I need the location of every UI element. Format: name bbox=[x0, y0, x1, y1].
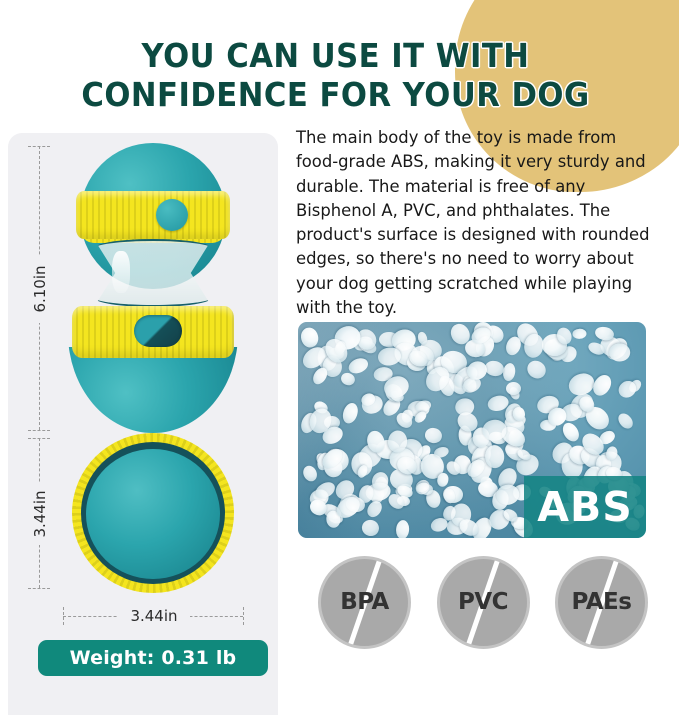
page-title: YOU CAN USE IT WITH CONFIDENCE FOR YOUR … bbox=[23, 36, 647, 114]
no-paes-icon: PAEs bbox=[555, 556, 648, 649]
dim-diameter-label: 3.44in bbox=[31, 482, 49, 546]
free-of-badge-group: BPA PVC PAEs bbox=[318, 554, 648, 650]
abs-material-photo: ABS bbox=[298, 322, 646, 538]
page-title-line2: CONFIDENCE FOR YOUR DOG bbox=[23, 75, 647, 114]
weight-badge-label: Weight: 0.31 lb bbox=[70, 647, 237, 669]
product-image-bottom bbox=[72, 433, 234, 593]
dim-height-label: 6.10in bbox=[31, 257, 49, 321]
toy-bottom-dome bbox=[86, 449, 220, 579]
dim-width-tick-right bbox=[243, 607, 244, 625]
dim-diameter-cap-bottom bbox=[28, 588, 50, 589]
no-bpa-label: BPA bbox=[340, 589, 389, 615]
weight-badge: Weight: 0.31 lb bbox=[38, 640, 268, 676]
no-paes-label: PAEs bbox=[572, 589, 632, 615]
product-image-side bbox=[62, 143, 242, 433]
no-pvc-icon: PVC bbox=[437, 556, 530, 649]
page-title-line1: YOU CAN USE IT WITH bbox=[142, 36, 530, 75]
toy-waist-highlight bbox=[112, 251, 130, 293]
abs-caption-text: ABS bbox=[537, 487, 633, 528]
no-bpa-icon: BPA bbox=[318, 556, 411, 649]
toy-top-button bbox=[156, 199, 188, 231]
dim-width-label: 3.44in bbox=[118, 607, 190, 625]
toy-dispense-slot bbox=[134, 315, 182, 347]
body-paragraph: The main body of the toy is made from fo… bbox=[296, 126, 656, 320]
no-pvc-label: PVC bbox=[458, 589, 508, 615]
dim-height-cap-bottom bbox=[28, 430, 50, 431]
abs-caption-block: ABS bbox=[524, 476, 646, 538]
infographic-page: YOU CAN USE IT WITH CONFIDENCE FOR YOUR … bbox=[0, 0, 679, 715]
toy-top-band bbox=[76, 191, 230, 239]
